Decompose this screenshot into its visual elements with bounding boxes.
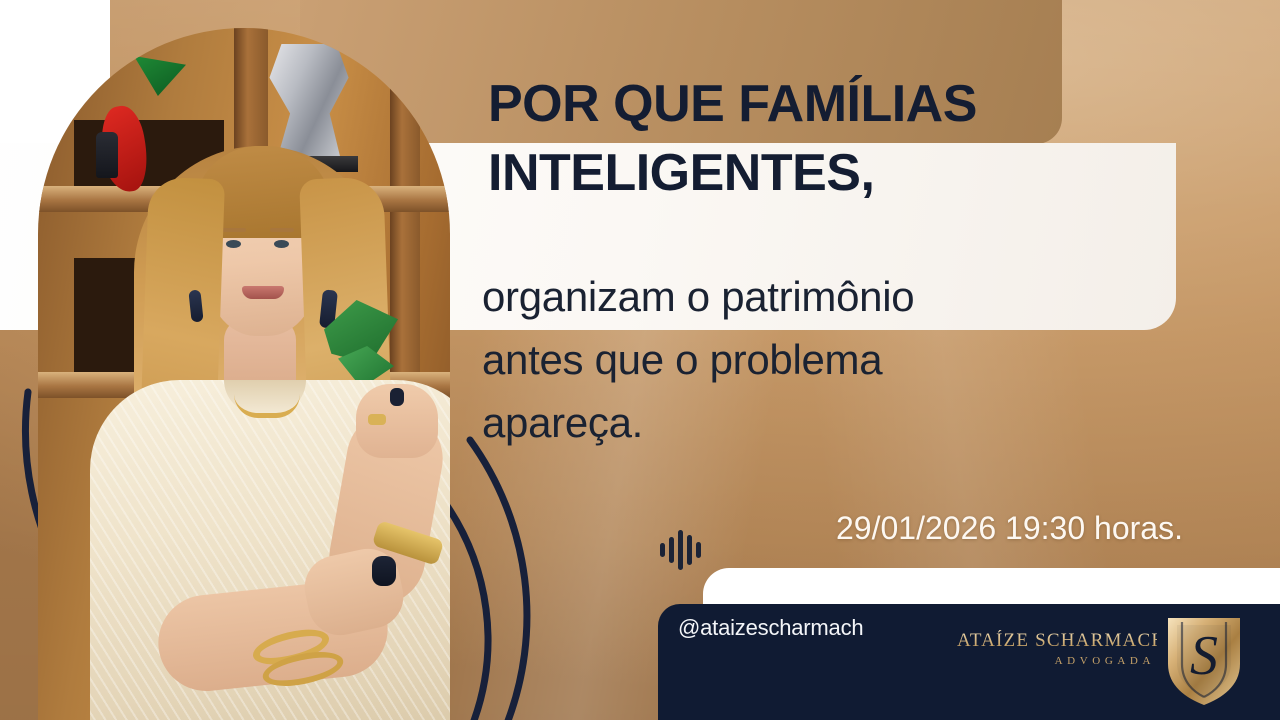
svg-text:S: S xyxy=(1190,625,1218,687)
photo-eye-right xyxy=(274,240,289,248)
photo-nail xyxy=(390,388,404,406)
event-datetime: 29/01/2026 19:30 horas. xyxy=(836,510,1183,547)
photo-brow-right xyxy=(270,228,294,232)
shield-crest-logo: S xyxy=(1158,612,1250,708)
photo-eye-left xyxy=(226,240,241,248)
photo-ring-upper xyxy=(368,414,386,425)
brand-subtitle: ADVOGADA xyxy=(957,655,1157,667)
promo-graphic: as xyxy=(0,0,1280,720)
portrait-photo-image xyxy=(38,28,450,720)
portrait-photo xyxy=(38,28,450,720)
subheadline: organizam o patrimônio antes que o probl… xyxy=(482,265,1122,454)
photo-mouth xyxy=(242,286,284,299)
photo-ring-lower xyxy=(372,556,396,586)
social-handle: @ataizescharmach xyxy=(678,615,863,641)
photo-bottle xyxy=(96,132,118,178)
brand-name: ATAÍZE SCHARMACH xyxy=(957,630,1157,652)
photo-brow-left xyxy=(222,228,246,232)
headline: POR QUE FAMÍLIAS INTELIGENTES, xyxy=(488,70,1108,208)
brand-wordmark: ATAÍZE SCHARMACH ADVOGADA xyxy=(957,630,1157,667)
audio-waveform-icon xyxy=(658,528,702,572)
